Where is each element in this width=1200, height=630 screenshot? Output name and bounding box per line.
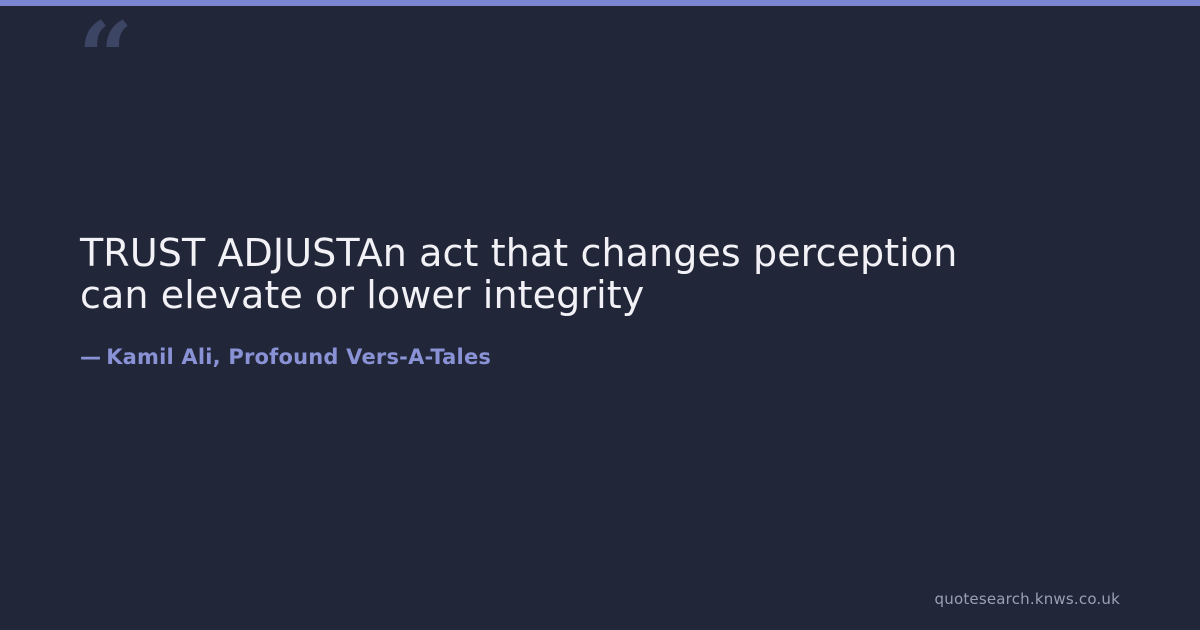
quote-card: “ TRUST ADJUSTAn act that changes percep… (0, 0, 1200, 630)
attribution-dash: — (80, 345, 101, 369)
quote-text: TRUST ADJUSTAn act that changes percepti… (80, 232, 1030, 316)
quote-attribution: —Kamil Ali, Profound Vers-A-Tales (80, 344, 1080, 370)
attribution-label: Kamil Ali, Profound Vers-A-Tales (106, 345, 491, 369)
quote-content: TRUST ADJUSTAn act that changes percepti… (80, 232, 1080, 370)
site-watermark: quotesearch.knws.co.uk (935, 590, 1120, 608)
top-accent-bar (0, 0, 1200, 6)
opening-quote-icon: “ (78, 10, 131, 106)
